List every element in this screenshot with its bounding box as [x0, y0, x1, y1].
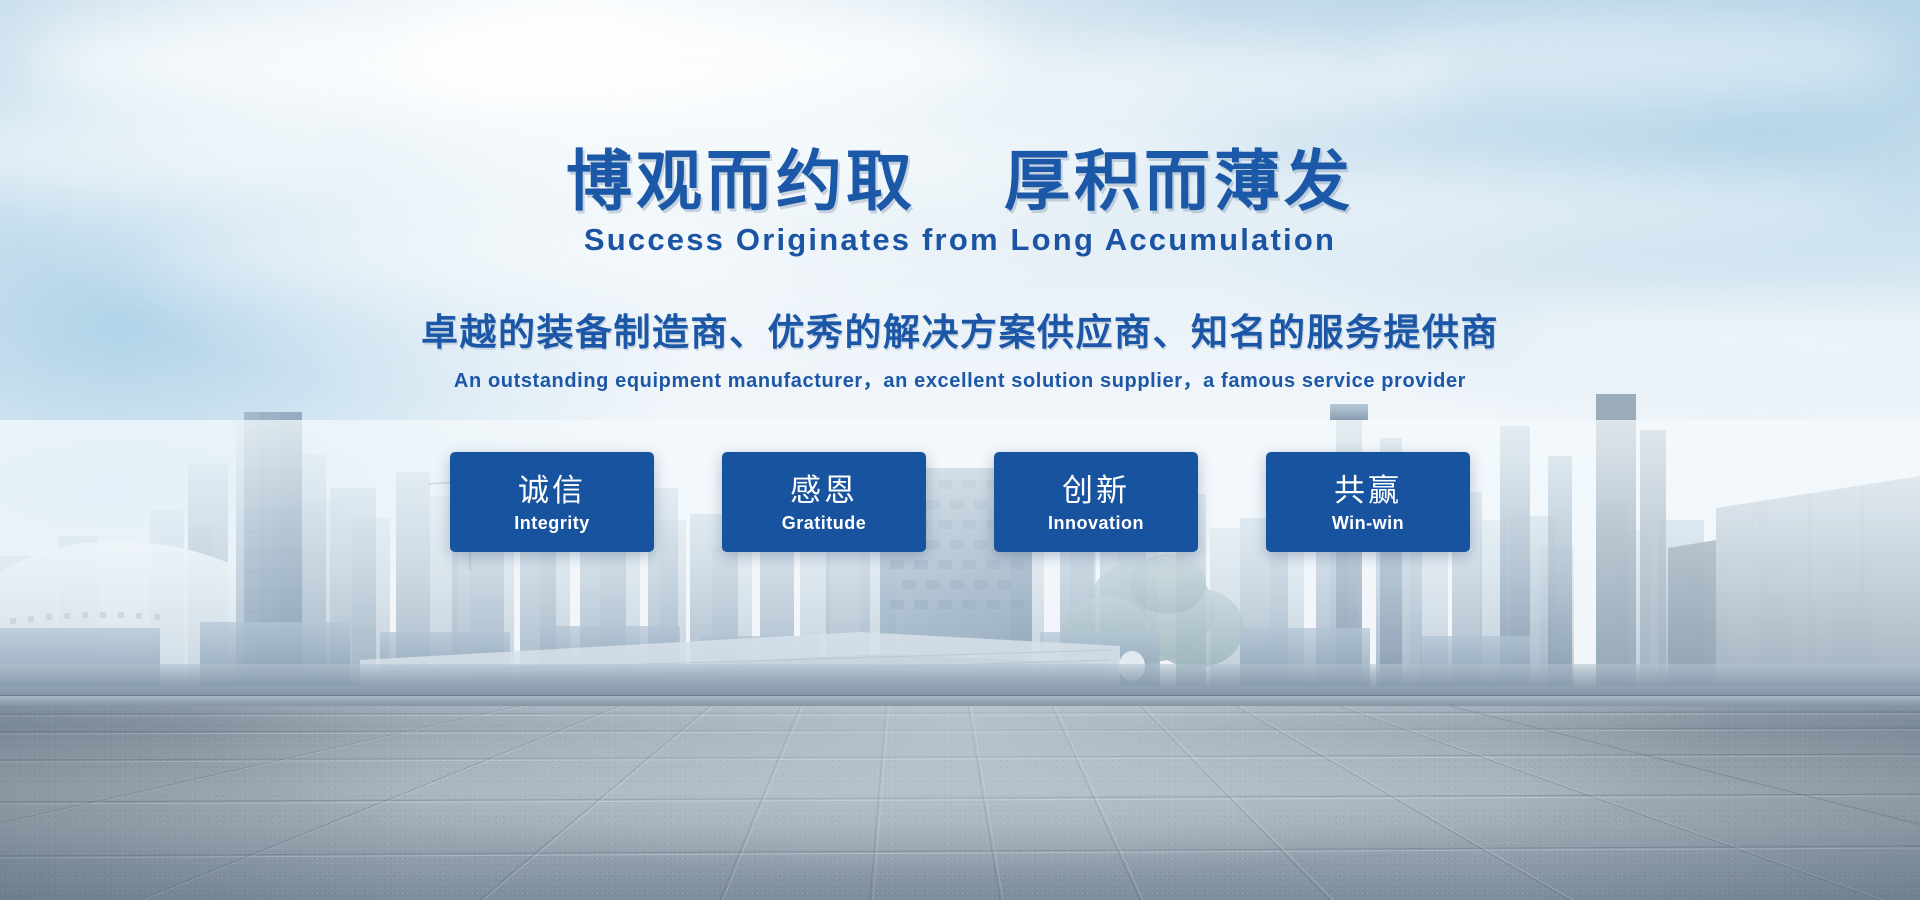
value-card-label-en: Win-win [1332, 513, 1404, 534]
value-card-label-cn: 感恩 [790, 474, 858, 509]
headline-chinese: 博观而约取 厚积而薄发 [0, 128, 1920, 224]
headline-chinese-part-1: 博观而约取 [566, 143, 916, 220]
value-card-label-cn: 共赢 [1334, 474, 1402, 509]
value-card-label-en: Integrity [514, 513, 590, 534]
value-card-win-win[interactable]: 共赢 Win-win [1266, 452, 1470, 552]
value-card-label-en: Gratitude [782, 513, 867, 534]
value-card-innovation[interactable]: 创新 Innovation [994, 452, 1198, 552]
headline-chinese-part-2: 厚积而薄发 [1004, 143, 1354, 220]
value-card-integrity[interactable]: 诚信 Integrity [450, 452, 654, 552]
subtitle-english: An outstanding equipment manufacturer，an… [0, 364, 1920, 393]
value-card-label-en: Innovation [1048, 513, 1144, 534]
core-values-card-list: 诚信 Integrity 感恩 Gratitude 创新 Innovation … [0, 452, 1920, 552]
subtitle-chinese: 卓越的装备制造商、优秀的解决方案供应商、知名的服务提供商 [0, 302, 1920, 356]
banner-content: 博观而约取 厚积而薄发 Success Originates from Long… [0, 0, 1920, 720]
value-card-label-cn: 诚信 [518, 474, 586, 509]
corporate-culture-banner: 博观而约取 厚积而薄发 Success Originates from Long… [0, 0, 1920, 900]
headline-english: Success Originates from Long Accumulatio… [0, 222, 1920, 258]
value-card-label-cn: 创新 [1062, 474, 1130, 509]
value-card-gratitude[interactable]: 感恩 Gratitude [722, 452, 926, 552]
stone-paved-plaza [0, 706, 1920, 900]
pavement-shading [0, 706, 1920, 900]
